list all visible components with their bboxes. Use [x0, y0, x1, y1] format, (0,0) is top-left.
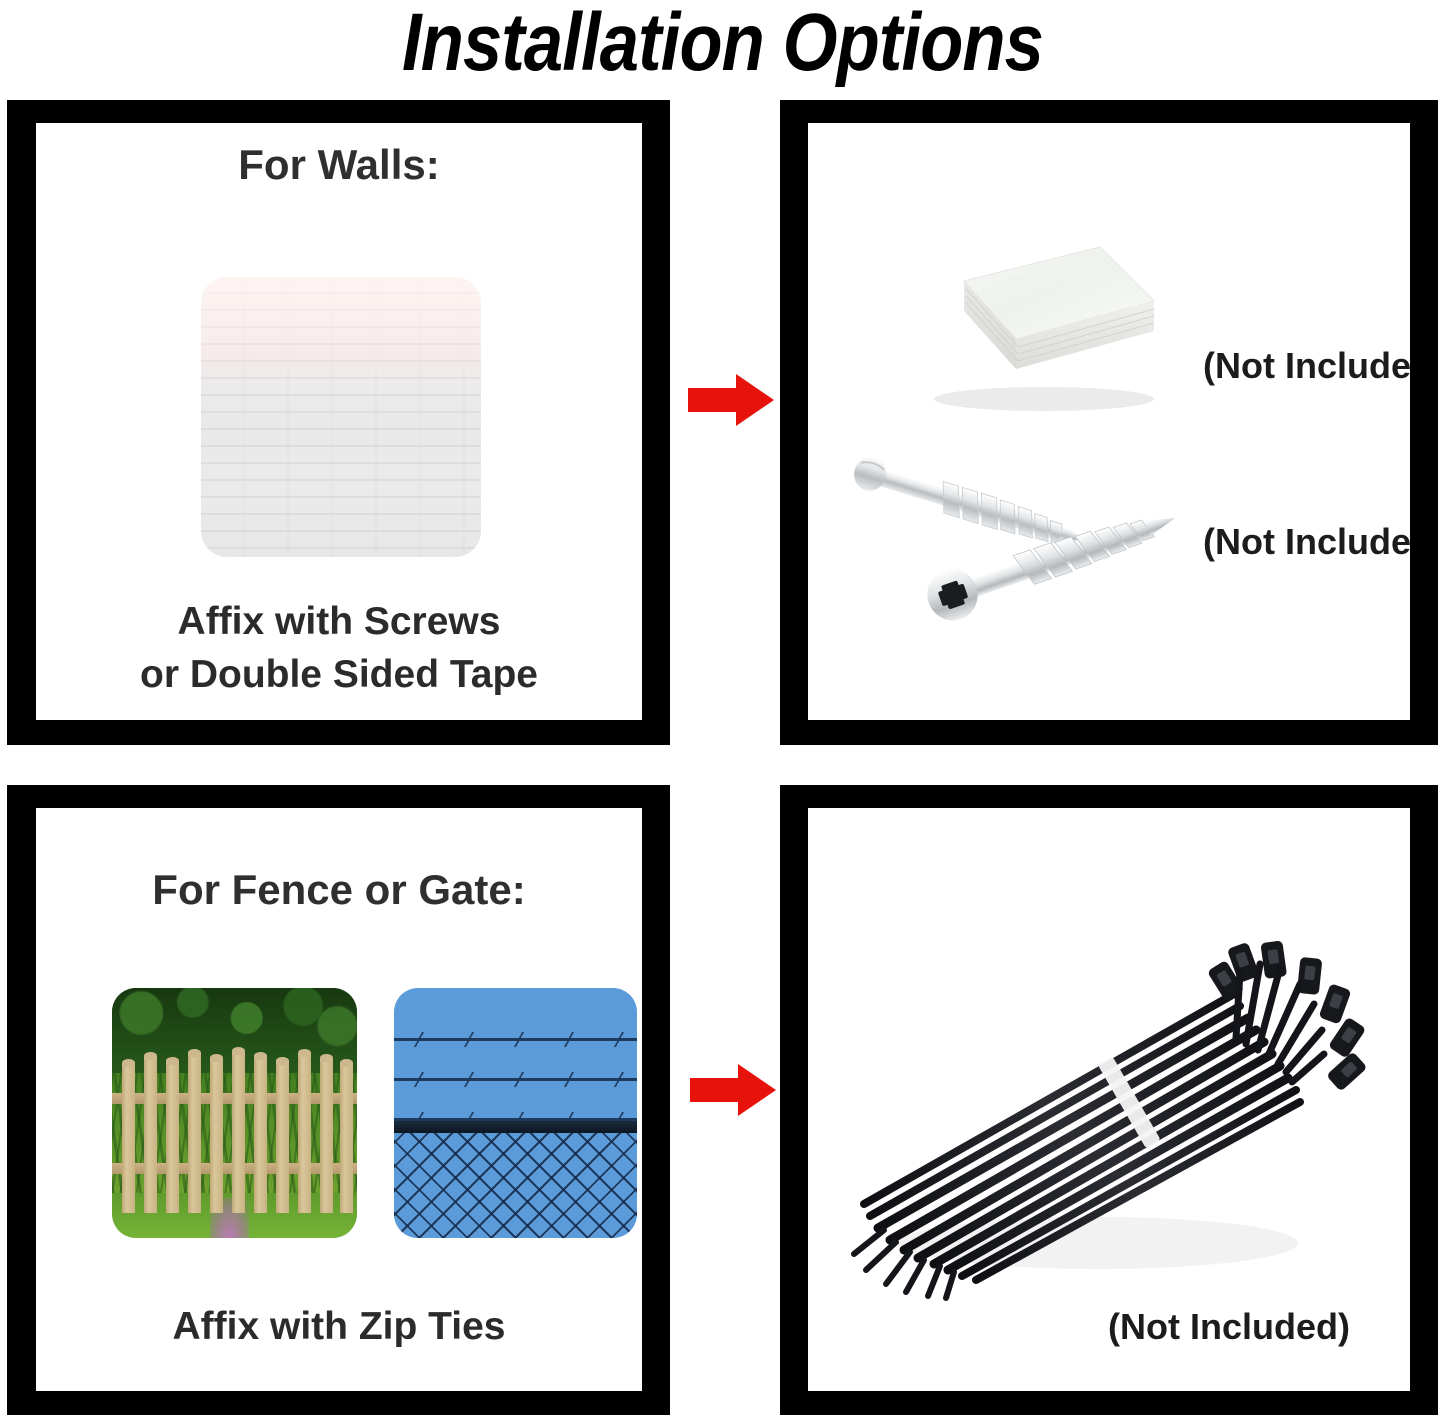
fence-picket: [320, 1058, 333, 1213]
walls-caption-line-2: or Double Sided Tape: [36, 648, 642, 701]
screws-not-included-label: (Not Included): [1203, 521, 1410, 563]
chain-link-mesh: [394, 1133, 637, 1238]
barbed-wire-strand: [394, 1078, 637, 1081]
for-walls-heading: For Walls:: [36, 141, 642, 189]
panel-wall-hardware-content: (Not Included): [808, 123, 1410, 720]
double-sided-tape-image: [904, 239, 1166, 414]
screws-image: [834, 453, 1194, 628]
chain-link-fence-photo: [394, 988, 637, 1238]
fence-picket: [298, 1053, 311, 1213]
chain-photo-top-rail: [394, 1121, 637, 1134]
brick-wall-image: [201, 277, 481, 557]
page-title: Installation Options: [101, 0, 1344, 90]
panel-wall-hardware: (Not Included): [780, 100, 1438, 745]
fence-picket: [210, 1058, 223, 1213]
arrow-right-icon-bottom: [690, 1062, 776, 1118]
panel-zip-ties-content: (Not Included): [808, 808, 1410, 1391]
fence-picket: [166, 1061, 179, 1214]
panel-zip-ties: (Not Included): [780, 785, 1438, 1415]
walls-caption: Affix with Screws or Double Sided Tape: [36, 595, 642, 701]
panel-for-fence-or-gate-content: For Fence or Gate:: [36, 808, 642, 1391]
wooden-fence-photo: [112, 988, 357, 1238]
fence-picket: [188, 1053, 201, 1213]
zipties-not-included-label: (Not Included): [1108, 1306, 1350, 1348]
fence-picket: [232, 1051, 245, 1214]
arrow-right-icon-top: [688, 372, 774, 428]
fence-picket: [254, 1056, 267, 1214]
barbed-wire-strand: [394, 1038, 637, 1041]
fence-picket: [122, 1063, 135, 1213]
panel-for-walls-content: For Walls: Affix with Screws or Double S…: [36, 123, 642, 720]
fence-picket: [144, 1056, 157, 1214]
installation-options-infographic: Installation Options For Walls: Affix wi…: [0, 0, 1445, 1422]
tape-not-included-label: (Not Included): [1203, 345, 1410, 387]
panel-for-walls: For Walls: Affix with Screws or Double S…: [7, 100, 670, 745]
walls-caption-line-1: Affix with Screws: [36, 595, 642, 648]
fence-picket: [340, 1063, 353, 1213]
zip-ties-image: [848, 898, 1368, 1308]
fence-caption: Affix with Zip Ties: [36, 1300, 642, 1353]
brick-top-highlight: [201, 277, 481, 389]
for-fence-heading: For Fence or Gate:: [36, 866, 642, 914]
panel-for-fence-or-gate: For Fence or Gate:: [7, 785, 670, 1415]
fence-picket: [276, 1061, 289, 1214]
